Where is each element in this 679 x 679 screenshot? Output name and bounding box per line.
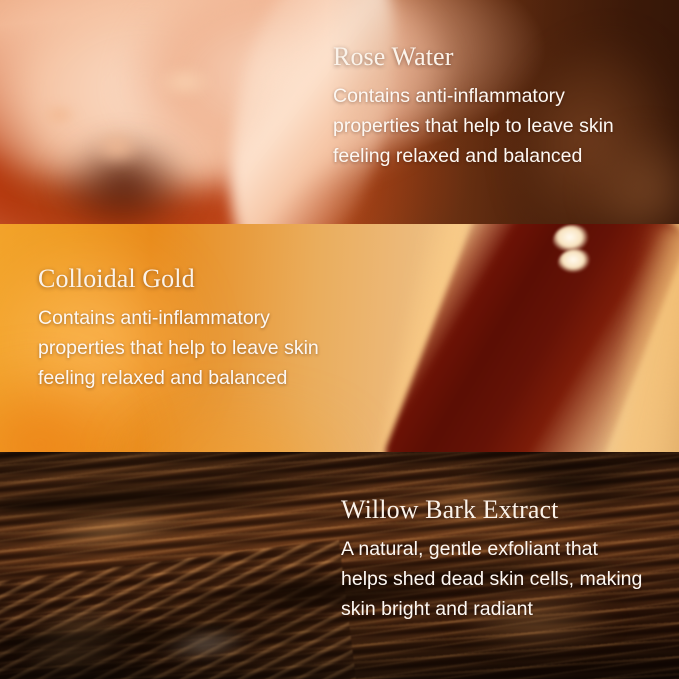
colloidal-gold-description-line-3: feeling relaxed and balanced <box>38 363 319 393</box>
colloidal-gold-heading: Colloidal Gold <box>38 264 319 294</box>
willow-bark-copy-block: Willow Bark Extract A natural, gentle ex… <box>341 495 642 624</box>
willow-bark-description-line-2: helps shed dead skin cells, making <box>341 564 642 594</box>
rose-water-copy-block: Rose Water Contains anti-inflammatory pr… <box>333 42 614 171</box>
willow-bark-description-line-1: A natural, gentle exfoliant that <box>341 534 642 564</box>
panel-colloidal-gold: Colloidal Gold Contains anti-inflammator… <box>0 224 679 452</box>
willow-bark-description: A natural, gentle exfoliant that helps s… <box>341 534 642 624</box>
rose-water-description-line-2: properties that help to leave skin <box>333 111 614 141</box>
gold-bubble-2 <box>558 249 594 277</box>
rose-water-description: Contains anti-inflammatory properties th… <box>333 81 614 171</box>
willow-bark-heading: Willow Bark Extract <box>341 495 642 525</box>
rose-water-heading: Rose Water <box>333 42 614 72</box>
panel-willow-bark-extract: Willow Bark Extract A natural, gentle ex… <box>0 452 679 679</box>
colloidal-gold-description-line-1: Contains anti-inflammatory <box>38 303 319 333</box>
ingredient-benefits-poster: Rose Water Contains anti-inflammatory pr… <box>0 0 679 679</box>
colloidal-gold-copy-block: Colloidal Gold Contains anti-inflammator… <box>38 264 319 393</box>
colloidal-gold-description: Contains anti-inflammatory properties th… <box>38 303 319 393</box>
willow-bark-description-line-3: skin bright and radiant <box>341 594 642 624</box>
panel-rose-water: Rose Water Contains anti-inflammatory pr… <box>0 0 679 224</box>
rose-water-description-line-3: feeling relaxed and balanced <box>333 141 614 171</box>
rose-water-description-line-1: Contains anti-inflammatory <box>333 81 614 111</box>
colloidal-gold-description-line-2: properties that help to leave skin <box>38 333 319 363</box>
